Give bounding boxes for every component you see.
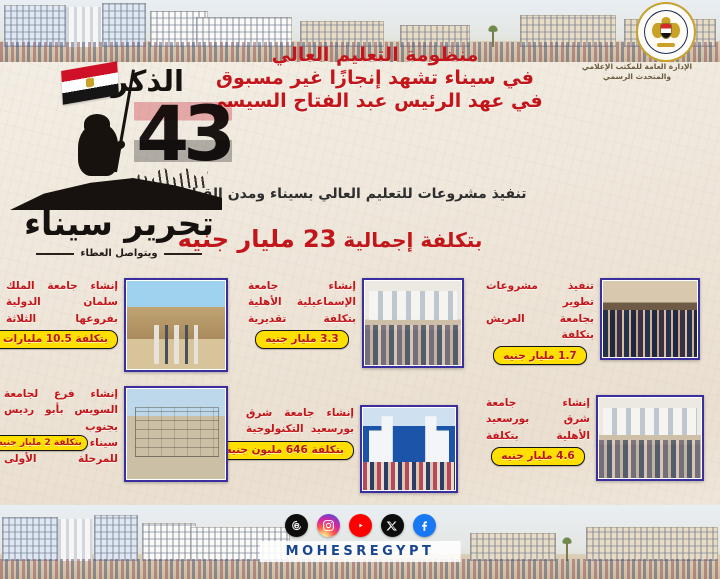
cost-badge: 3.3 مليار جنيه [255, 330, 349, 349]
caption-trailing-line: للمرحلة الأولى [4, 451, 118, 467]
caption-line: إنشاء فرع لجامعة [4, 386, 118, 402]
caption-line: الإسماعيلية الأهلية [248, 294, 356, 310]
cost-badge: بتكلفة 2 مليار جنيه [0, 435, 88, 451]
facebook-icon[interactable] [413, 514, 436, 537]
caption-line: إنشاء جامعة [486, 395, 590, 411]
cost-badge: بتكلفة 10.5 مليارات جنيه [0, 330, 118, 349]
anniversary-tagline-row: ويتواصل العطاء [10, 248, 228, 259]
project-card-ismailia-ahlia-university: إنشاء جامعة الإسماعيلية الأهلية بتكلفة ت… [248, 278, 478, 368]
caption-line: سلمان الدولية [6, 294, 118, 310]
liberation-word: تحرير سيناء [10, 204, 228, 243]
cost-prefix-label: بتكلفة إجمالية [343, 228, 482, 252]
caption-line: بجامعة العريش بتكلفة [486, 311, 594, 344]
card-photo [600, 278, 700, 360]
card-photo [124, 386, 228, 482]
rule-left [164, 253, 202, 255]
caption-line: بفروعها الثلاثة [6, 311, 118, 327]
project-card-east-portsaid-ahlia-university: إنشاء جامعة شرق بورسعيد الأهلية بتكلفة 4… [486, 395, 714, 481]
instagram-icon[interactable] [317, 514, 340, 537]
card-photo [362, 278, 464, 368]
youtube-icon[interactable] [349, 514, 372, 537]
cost-badge: 4.6 مليار جنيه [491, 447, 585, 466]
caption-line: إنشاء جامعة شرق [246, 405, 354, 421]
card-caption: إنشاء جامعة الملك سلمان الدولية بفروعها … [6, 278, 118, 349]
card-photo [596, 395, 704, 481]
caption-line: الأهلية بتكلفة [486, 428, 590, 444]
threads-icon[interactable] [285, 514, 308, 537]
card-photo [360, 405, 458, 493]
social-links-row [0, 514, 720, 537]
anniversary-tagline: ويتواصل العطاء [80, 248, 157, 259]
caption-line: السويس بأبو رديس بجنوب [4, 402, 118, 435]
caption-line: سيناء [90, 435, 118, 451]
card-caption: تنفيذ مشروعات تطوير بجامعة العريش بتكلفة… [486, 278, 594, 365]
card-caption: إنشاء جامعة شرق بورسعيد التكنولوجية بتكل… [246, 405, 354, 460]
caption-line: بتكلفة تقديرية [248, 311, 356, 327]
caption-line: بورسعيد التكنولوجية [246, 421, 354, 437]
rule-right [36, 253, 74, 255]
caption-line: إنشاء جامعة الملك [6, 278, 118, 294]
social-handle: MOHESREGYPT [260, 541, 461, 562]
soldier-silhouette-icon [62, 96, 140, 182]
cost-badge: 1.7 مليار جنيه [493, 346, 587, 365]
anniversary-number: 43 [136, 96, 230, 172]
project-card-east-portsaid-technological-university: إنشاء جامعة شرق بورسعيد التكنولوجية بتكل… [246, 405, 474, 493]
caption-line: تنفيذ مشروعات تطوير [486, 278, 594, 311]
card-caption: إنشاء فرع لجامعة السويس بأبو رديس بجنوب … [4, 386, 118, 467]
card-caption: إنشاء جامعة شرق بورسعيد الأهلية بتكلفة 4… [486, 395, 590, 466]
project-card-king-salman-international-university: إنشاء جامعة الملك سلمان الدولية بفروعها … [6, 278, 242, 372]
project-card-suez-university-abu-rudeis-branch: إنشاء فرع لجامعة السويس بأبو رديس بجنوب … [4, 386, 242, 482]
sinai-liberation-anniversary-emblem: الذكرى 43 تحرير سيناء ويتواصل العطاء [4, 58, 236, 263]
egypt-eagle-icon [653, 17, 679, 47]
infographic-poster: الإدارة العامة للمكتب الإعلامي والمتحدث … [0, 0, 720, 579]
caption-line: شرق بورسعيد [486, 411, 590, 427]
ministry-emblem-logo [638, 4, 694, 60]
card-caption: إنشاء جامعة الإسماعيلية الأهلية بتكلفة ت… [248, 278, 356, 349]
project-card-arish-university: تنفيذ مشروعات تطوير بجامعة العريش بتكلفة… [486, 278, 714, 365]
anniversary-number-value: 43 [136, 89, 230, 178]
x-twitter-icon[interactable] [381, 514, 404, 537]
card-photo [124, 278, 228, 372]
caption-line: إنشاء جامعة [248, 278, 356, 294]
